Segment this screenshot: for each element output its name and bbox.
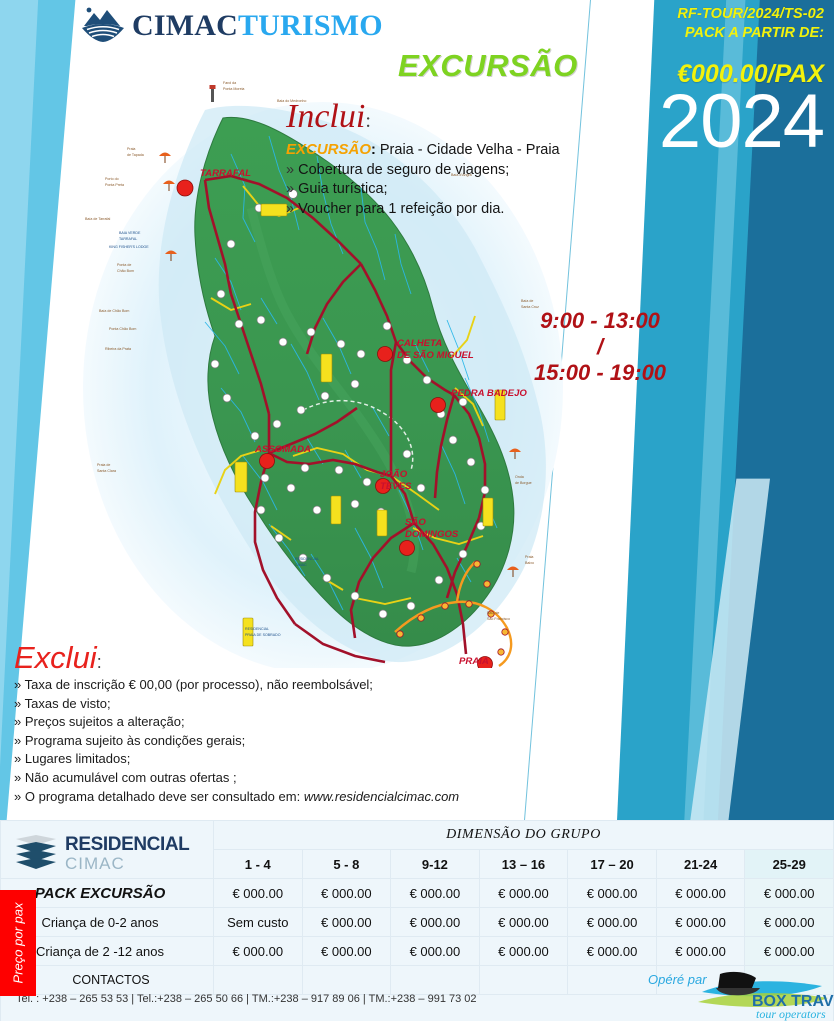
group-dimension-header: DIMENSÃO DO GRUPO	[214, 821, 834, 850]
exclui-item-text: Taxas de visto;	[25, 696, 111, 711]
residencial-name: RESIDENCIAL	[65, 835, 189, 854]
svg-text:Praia: Praia	[127, 147, 135, 151]
exclui-item: » Preços sujeitos a alteração;	[14, 713, 534, 732]
logo-wordmark: CIMACTURISMO	[132, 9, 383, 43]
reference-code: RF-TOUR/2024/TS-02	[524, 6, 824, 22]
price-cell: € 000.00	[568, 908, 657, 937]
svg-text:Ponta de: Ponta de	[117, 263, 131, 267]
price-per-pax-label: Preço por pax	[11, 903, 26, 984]
exclui-list: » Taxa de inscrição € 00,00 (por process…	[14, 676, 534, 806]
price-cell: € 000.00	[302, 908, 391, 937]
svg-text:Baixo: Baixo	[525, 561, 534, 565]
price-cell: € 000.00	[302, 937, 391, 966]
spacer-cell	[302, 966, 391, 995]
bullet-icon: »	[286, 181, 294, 197]
column-header: 17 – 20	[568, 850, 657, 879]
svg-text:Baía de Tarrafal: Baía de Tarrafal	[85, 217, 111, 221]
inclui-item-text: Guia turística;	[298, 181, 387, 197]
svg-text:Ponta Preta: Ponta Preta	[105, 183, 124, 187]
price-cell: € 000.00	[745, 879, 834, 908]
inclui-item: » Guia turística;	[286, 180, 626, 200]
price-cell: € 000.00	[391, 908, 480, 937]
bullet-icon: »	[14, 677, 21, 692]
schedule-afternoon: 15:00 - 19:00	[500, 360, 700, 386]
price-cell: € 000.00	[391, 879, 480, 908]
svg-text:RESIDENCIAL: RESIDENCIAL	[295, 557, 319, 561]
svg-text:TARRAFAL: TARRAFAL	[119, 237, 137, 241]
bullet-icon: »	[286, 162, 294, 178]
mountain-wave-icon	[80, 6, 126, 46]
exclui-item-text: Preços sujeitos a alteração;	[25, 714, 185, 729]
contact-phone-line: Tel. : +238 – 265 53 53 | Tel.:+238 – 26…	[16, 993, 477, 1005]
svg-text:São Francisco: São Francisco	[487, 617, 510, 621]
svg-text:DOMINGOS: DOMINGOS	[405, 529, 459, 540]
svg-text:Ponta Chão Bom: Ponta Chão Bom	[109, 327, 136, 331]
schedule-separator: /	[500, 334, 700, 360]
bullet-icon: »	[286, 201, 294, 217]
exclui-item-text: Programa sujeito às condições gerais;	[25, 733, 245, 748]
exclui-item: » Taxa de inscrição € 00,00 (por process…	[14, 676, 534, 695]
svg-text:Porto do: Porto do	[105, 177, 119, 181]
bullet-icon: »	[14, 696, 21, 711]
column-header: 13 – 16	[479, 850, 568, 879]
exclui-item: » Programa sujeito às condições gerais;	[14, 732, 534, 751]
column-header: 5 - 8	[302, 850, 391, 879]
exclui-item-text: Lugares limitados;	[25, 751, 131, 766]
bullet-icon: »	[14, 789, 21, 804]
svg-text:RESIDENCIAL: RESIDENCIAL	[245, 627, 269, 631]
schedule-morning: 9:00 - 13:00	[500, 308, 700, 334]
price-cell: € 000.00	[479, 908, 568, 937]
pack-from-label: PACK A PARTIR DE:	[524, 25, 824, 41]
table-row: Criança de 2 -12 anos € 000.00 € 000.00 …	[1, 937, 834, 966]
logo-text-accent: TURISMO	[238, 9, 383, 42]
inclui-heading: Inclui:	[286, 98, 371, 136]
exclui-colon: :	[97, 652, 102, 672]
price-cell: € 000.00	[214, 879, 303, 908]
exclui-item: » Não acumulável com outras ofertas ;	[14, 769, 534, 788]
cimac-turismo-logo: CIMACTURISMO	[80, 6, 383, 46]
svg-text:CIMAC: CIMAC	[295, 563, 307, 567]
column-header: 1 - 4	[214, 850, 303, 879]
price-cell: € 000.00	[302, 879, 391, 908]
inclui-item-text: Cobertura de seguro de viagens;	[298, 162, 509, 178]
svg-text:DE SÃO MIGUEL: DE SÃO MIGUEL	[397, 350, 474, 361]
price-cell: Sem custo	[214, 908, 303, 937]
price-cell: € 000.00	[656, 937, 745, 966]
spacer-cell	[391, 966, 480, 995]
bullet-icon: »	[14, 714, 21, 729]
svg-text:Santa Clara: Santa Clara	[97, 469, 116, 473]
residencial-sub: CIMAC	[65, 855, 189, 872]
price-cell: € 000.00	[656, 908, 745, 937]
price-cell: € 000.00	[656, 879, 745, 908]
residencial-wordmark: RESIDENCIAL CIMAC	[65, 835, 189, 872]
exclui-item: » Taxas de visto;	[14, 695, 534, 714]
inclui-item: » Cobertura de seguro de viagens;	[286, 161, 626, 181]
box-travel-tagline: tour operators	[756, 1007, 826, 1021]
inclui-heading-text: Inclui	[286, 98, 365, 135]
svg-text:TARRAFAL: TARRAFAL	[200, 168, 251, 179]
price-cell: € 000.00	[479, 937, 568, 966]
spacer-cell	[568, 966, 657, 995]
year-label: 2024	[524, 87, 824, 157]
bullet-icon: »	[14, 770, 21, 785]
residencial-cimac-logo: RESIDENCIAL CIMAC	[14, 833, 189, 873]
svg-text:de Tapada: de Tapada	[127, 153, 144, 157]
price-cell: € 000.00	[391, 937, 480, 966]
svg-text:de Borgue: de Borgue	[515, 481, 532, 485]
exclui-item-website: » O programa detalhado deve ser consulta…	[14, 788, 534, 807]
bullet-icon: »	[14, 751, 21, 766]
header-price-block: RF-TOUR/2024/TS-02 PACK A PARTIR DE: €00…	[524, 6, 824, 157]
exclui-item-text: O programa detalhado deve ser consultado…	[25, 789, 304, 804]
svg-text:PRAIA: PRAIA	[459, 656, 489, 667]
inclui-item: » Voucher para 1 refeição por dia.	[286, 200, 626, 220]
logo-text-main: CIMAC	[132, 9, 238, 42]
svg-text:CALHETA: CALHETA	[397, 338, 442, 349]
website-link[interactable]: www.residencialcimac.com	[304, 789, 459, 804]
exclui-item-text: Não acumulável com outras ofertas ;	[25, 770, 237, 785]
brochure-page: CIMACTURISMO RF-TOUR/2024/TS-02 PACK A P…	[0, 0, 834, 1021]
exclui-heading: Exclui:	[14, 640, 102, 676]
bullet-icon: »	[14, 733, 21, 748]
svg-text:Praia de: Praia de	[97, 463, 110, 467]
price-cell: € 000.00	[745, 908, 834, 937]
svg-text:Farol da: Farol da	[223, 81, 236, 85]
inclui-colon: :	[365, 110, 371, 132]
price-cell: € 000.00	[568, 937, 657, 966]
svg-text:JOÃO: JOÃO	[380, 469, 408, 480]
price-cell: € 000.00	[214, 937, 303, 966]
table-row: Criança de 0-2 anos Sem custo € 000.00 €…	[1, 908, 834, 937]
svg-text:Ponta Moreia: Ponta Moreia	[223, 87, 244, 91]
table-row: PACK EXCURSÃO € 000.00 € 000.00 € 000.00…	[1, 879, 834, 908]
exclui-item-text: Taxa de inscrição € 00,00 (por processo)…	[25, 677, 373, 692]
svg-text:Chão Bom: Chão Bom	[117, 269, 134, 273]
svg-text:PRAIA DE SOBRADO: PRAIA DE SOBRADO	[245, 633, 281, 637]
svg-text:KING FISHER'S LODGE: KING FISHER'S LODGE	[109, 245, 149, 249]
price-per-pax-bar: Preço por pax	[0, 890, 36, 996]
svg-text:TEVES: TEVES	[380, 481, 412, 492]
svg-text:Baía de: Baía de	[487, 611, 499, 615]
column-header: 21-24	[656, 850, 745, 879]
price-cell: € 000.00	[568, 879, 657, 908]
svg-text:Baía de: Baía de	[521, 299, 533, 303]
inclui-item-text: Voucher para 1 refeição por dia.	[298, 201, 504, 217]
column-header: 9-12	[391, 850, 480, 879]
column-header: 25-29	[745, 850, 834, 879]
spacer-cell	[479, 966, 568, 995]
svg-text:Ribeira da Prata: Ribeira da Prata	[105, 347, 131, 351]
schedule-block: 9:00 - 13:00 / 15:00 - 19:00	[500, 308, 700, 386]
svg-text:BAIA VERDE: BAIA VERDE	[119, 231, 141, 235]
svg-text:Praia: Praia	[525, 555, 533, 559]
inclui-lead-label: EXCURSÃO	[286, 141, 371, 158]
price-cell: € 000.00	[745, 937, 834, 966]
chevron-stack-icon	[14, 833, 58, 873]
spacer-cell	[214, 966, 303, 995]
svg-text:SÃO: SÃO	[405, 517, 426, 528]
exclui-item: » Lugares limitados;	[14, 750, 534, 769]
svg-text:Onda: Onda	[515, 475, 524, 479]
exclui-heading-text: Exclui	[14, 640, 97, 675]
svg-text:Baía de Chão Bom: Baía de Chão Bom	[99, 309, 129, 313]
box-travel-logo: BOX TRAVEL tour operators	[690, 966, 834, 1021]
svg-text:ASSOMADA: ASSOMADA	[254, 444, 311, 455]
price-cell: € 000.00	[479, 879, 568, 908]
svg-text:PEDRA BADEJO: PEDRA BADEJO	[451, 388, 527, 399]
